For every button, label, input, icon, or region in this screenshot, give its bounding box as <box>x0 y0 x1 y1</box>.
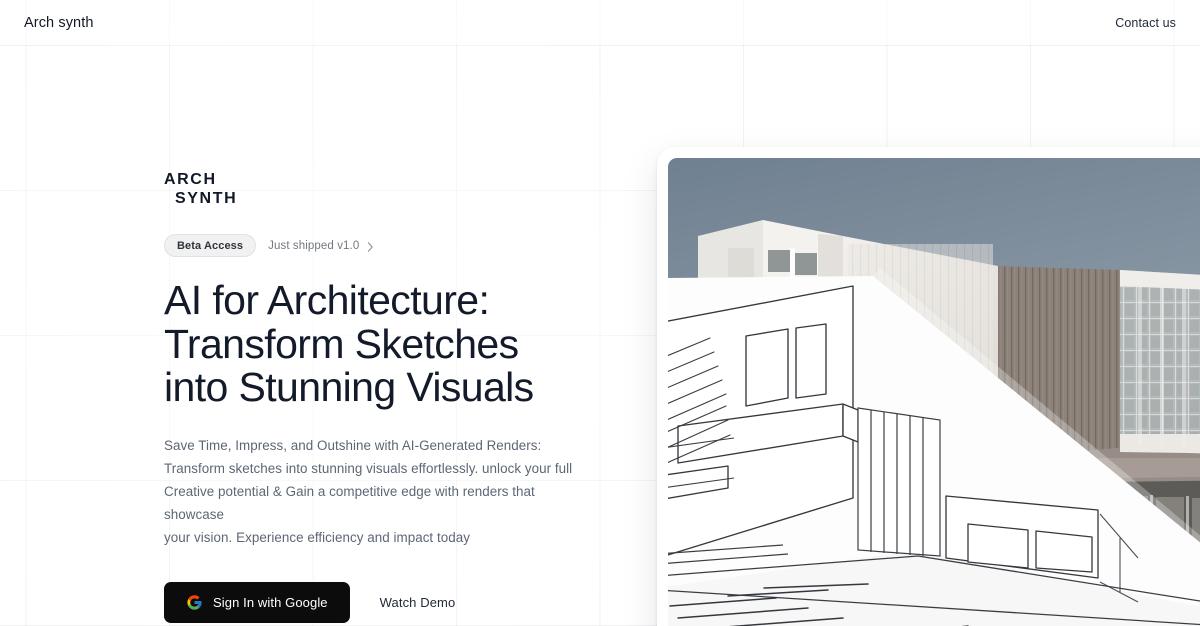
nav-link-contact-us[interactable]: Contact us <box>1115 16 1176 30</box>
top-navbar: Arch synth Contact us <box>0 0 1200 45</box>
status-badge-beta-access[interactable]: Beta Access <box>164 234 256 257</box>
hero-description: Save Time, Impress, and Outshine with AI… <box>164 434 584 550</box>
announcement-row: Beta Access Just shipped v1.0 <box>164 234 724 257</box>
watch-demo-button[interactable]: Watch Demo <box>378 591 458 614</box>
release-note-link[interactable]: Just shipped v1.0 <box>268 240 375 252</box>
logo-text-arch: ARCH <box>164 170 724 189</box>
showcase-image <box>668 158 1200 626</box>
brand-name[interactable]: Arch synth <box>24 15 94 31</box>
sign-in-with-google-button[interactable]: Sign In with Google <box>164 582 350 623</box>
release-note-label: Just shipped v1.0 <box>268 240 359 252</box>
google-g-icon <box>186 594 203 611</box>
arch-synth-logo: ARCH SYNTH <box>164 170 724 208</box>
page-title: AI for Architecture: Transform Sketches … <box>164 279 724 410</box>
logo-text-synth: SYNTH <box>164 189 724 208</box>
chevron-right-icon <box>367 242 375 250</box>
cta-row: Sign In with Google Watch Demo <box>164 582 724 623</box>
showcase-frame <box>657 147 1200 626</box>
hero-section: ARCH SYNTH Beta Access Just shipped v1.0… <box>164 170 724 623</box>
landing-page: Arch synth Contact us ARCH SYNTH Beta Ac… <box>0 0 1200 626</box>
sign-in-button-label: Sign In with Google <box>213 595 328 610</box>
